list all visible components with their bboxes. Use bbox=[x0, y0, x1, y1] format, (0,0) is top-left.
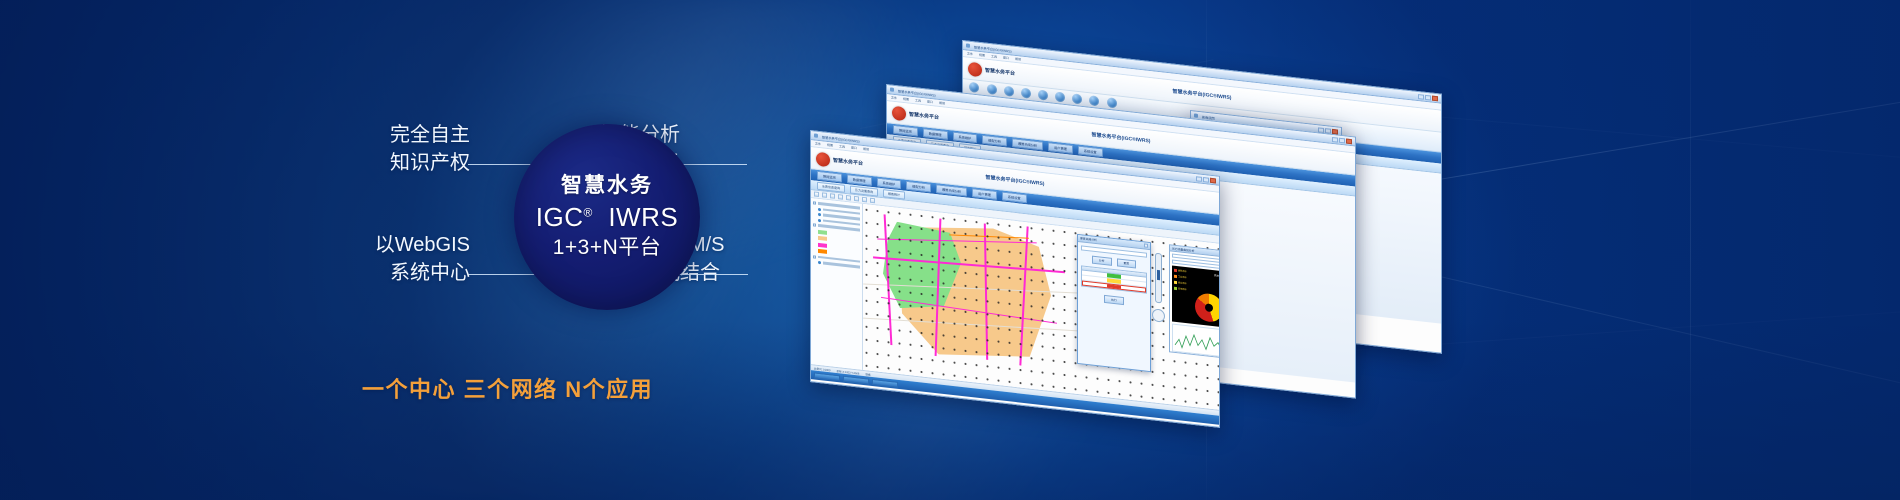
brand-label: 智慧水务平台 bbox=[985, 67, 1015, 77]
valve-analysis-dialog[interactable]: 爆管关阀分析 分析 重置 bbox=[1077, 234, 1151, 372]
chart-analysis-panel[interactable]: 压力流量曲线分析 居民用水 工业用水 商业用水 其他用水 bbox=[1169, 244, 1219, 359]
maximize-icon[interactable] bbox=[1203, 177, 1209, 183]
screenshot-stack: 智慧水务平台(IGC®IWRS) 文件 视图 工具 窗口 帮助 智慧水务平台 智… bbox=[800, 40, 1900, 380]
valve-result-table[interactable] bbox=[1081, 265, 1147, 293]
window-controls[interactable] bbox=[1332, 136, 1352, 143]
close-icon[interactable] bbox=[1346, 138, 1352, 144]
globe-icon bbox=[1004, 86, 1014, 97]
measure-icon[interactable] bbox=[862, 197, 867, 203]
taskbar-button[interactable] bbox=[872, 378, 898, 387]
close-icon[interactable] bbox=[1210, 177, 1216, 183]
water-drop-logo-icon bbox=[892, 105, 906, 121]
globe-icon bbox=[987, 84, 997, 95]
window-icon bbox=[966, 43, 970, 47]
sparkline-svg bbox=[1173, 325, 1219, 358]
dialog-title: 爆管关阀分析 bbox=[1080, 236, 1097, 242]
app-window-front[interactable]: 智慧水务平台(IGC®IWRS) 文件 视图 工具 窗口 帮助 智慧水务平台 智… bbox=[810, 130, 1220, 428]
legend-label: 其他用水 bbox=[1178, 286, 1187, 291]
core-badge: 智慧水务 IGC® IWRS 1+3+N平台 bbox=[514, 124, 700, 310]
maximize-icon[interactable] bbox=[1425, 94, 1431, 100]
menu-item[interactable]: 文件 bbox=[967, 52, 973, 57]
minimize-icon[interactable] bbox=[1196, 176, 1202, 182]
legend-label: 居民用水 bbox=[1178, 268, 1187, 273]
close-icon[interactable] bbox=[1432, 95, 1438, 101]
status-badge bbox=[1107, 284, 1121, 289]
pan-icon[interactable] bbox=[846, 195, 851, 201]
pie-chart-container: 居民用水 工业用水 商业用水 其他用水 供水量:52.73 bbox=[1172, 266, 1219, 329]
legend-swatch bbox=[1174, 268, 1177, 271]
platform-title: 智慧水务平台(IGC®IWRS) bbox=[986, 174, 1045, 188]
minimize-icon[interactable] bbox=[1332, 136, 1338, 142]
window-controls[interactable] bbox=[1196, 176, 1216, 183]
pie-chart bbox=[1195, 292, 1219, 323]
close-icon[interactable] bbox=[1144, 243, 1148, 247]
legend-label: 商业用水 bbox=[1178, 280, 1187, 285]
menu-item[interactable]: 帮助 bbox=[939, 101, 945, 106]
taskbar-button[interactable] bbox=[843, 375, 869, 384]
zoom-in-icon[interactable] bbox=[830, 193, 835, 199]
sparkline-chart bbox=[1172, 324, 1219, 359]
maximize-icon[interactable] bbox=[1339, 137, 1345, 143]
platform-title: 智慧水务平台(IGC®IWRS) bbox=[1092, 131, 1151, 145]
menu-item[interactable]: 窗口 bbox=[851, 146, 857, 151]
platform-diagram: 完全自主 知识产权 智能分析 数据展示 以WebGIS 系统中心 C/S+B/S… bbox=[270, 100, 830, 390]
feature-top-left: 完全自主 知识产权 bbox=[270, 122, 470, 177]
tagline: 一个中心 三个网络 N个应用 bbox=[362, 372, 802, 404]
brand-label: 智慧水务平台 bbox=[909, 111, 939, 121]
globe-icon bbox=[1089, 95, 1099, 106]
identify-icon[interactable] bbox=[870, 198, 875, 204]
menu-item[interactable]: 视图 bbox=[979, 53, 985, 58]
minimize-icon[interactable] bbox=[1418, 94, 1424, 100]
hero-banner: 智慧水务平台(IGC®IWRS) 文件 视图 工具 窗口 帮助 智慧水务平台 智… bbox=[0, 0, 1900, 500]
feature-line-1: 完全自主 bbox=[390, 124, 470, 146]
supply-value-label: 供水量:52.73 bbox=[1214, 273, 1219, 279]
dialog-execute-button[interactable]: 执行 bbox=[1104, 294, 1124, 304]
window-icon bbox=[890, 87, 894, 91]
brand-label: 智慧水务平台 bbox=[833, 157, 863, 167]
globe-icon bbox=[1107, 97, 1117, 108]
menu-item[interactable]: 工具 bbox=[991, 54, 997, 59]
globe-icon bbox=[1055, 91, 1065, 102]
feature-line-1: 以WebGIS bbox=[375, 234, 470, 256]
menu-item[interactable]: 帮助 bbox=[1015, 57, 1021, 62]
connector-line-bottom-right bbox=[670, 274, 748, 275]
connector-line-top-right bbox=[675, 164, 747, 165]
legend-swatch bbox=[1174, 280, 1177, 283]
globe-icon bbox=[1072, 93, 1082, 104]
core-product-name: IGC bbox=[536, 202, 584, 232]
feature-bottom-left: 以WebGIS 系统中心 bbox=[270, 232, 470, 287]
registered-mark-icon: ® bbox=[584, 205, 593, 219]
platform-title: 智慧水务平台(IGC®IWRS) bbox=[1173, 88, 1232, 102]
zoom-slider-icon[interactable] bbox=[1155, 253, 1162, 304]
menu-item[interactable]: 文件 bbox=[891, 96, 897, 101]
legend-swatch bbox=[1174, 274, 1177, 277]
globe-icon bbox=[969, 82, 979, 93]
core-product-suffix: IWRS bbox=[608, 202, 678, 232]
core-platform: 1+3+N平台 bbox=[553, 237, 662, 259]
window-controls[interactable] bbox=[1418, 94, 1438, 101]
feature-line-2: 系统中心 bbox=[270, 260, 470, 288]
status-message: 就绪 bbox=[865, 372, 870, 377]
water-drop-logo-icon bbox=[968, 61, 982, 77]
dialog-reset-button[interactable]: 重置 bbox=[1117, 258, 1137, 268]
menu-item[interactable]: 视图 bbox=[903, 97, 909, 102]
globe-icon bbox=[1038, 89, 1048, 100]
menu-item[interactable]: 工具 bbox=[839, 144, 845, 149]
menu-item[interactable]: 窗口 bbox=[927, 100, 933, 105]
feature-line-2: 知识产权 bbox=[270, 150, 470, 178]
legend-label: 工业用水 bbox=[1178, 274, 1187, 279]
menu-item[interactable]: 窗口 bbox=[1003, 56, 1009, 61]
zoom-out-icon[interactable] bbox=[838, 194, 843, 200]
globe-icon bbox=[1021, 88, 1031, 99]
legend-swatch bbox=[1174, 286, 1177, 289]
core-title: 智慧水务 bbox=[561, 175, 653, 197]
dialog-analyze-button[interactable]: 分析 bbox=[1092, 255, 1112, 265]
window-icon bbox=[1194, 113, 1198, 117]
menu-item[interactable]: 工具 bbox=[915, 98, 921, 103]
core-product: IGC® IWRS bbox=[536, 204, 678, 231]
select-icon[interactable] bbox=[854, 196, 859, 202]
menu-item[interactable]: 帮助 bbox=[863, 147, 869, 152]
